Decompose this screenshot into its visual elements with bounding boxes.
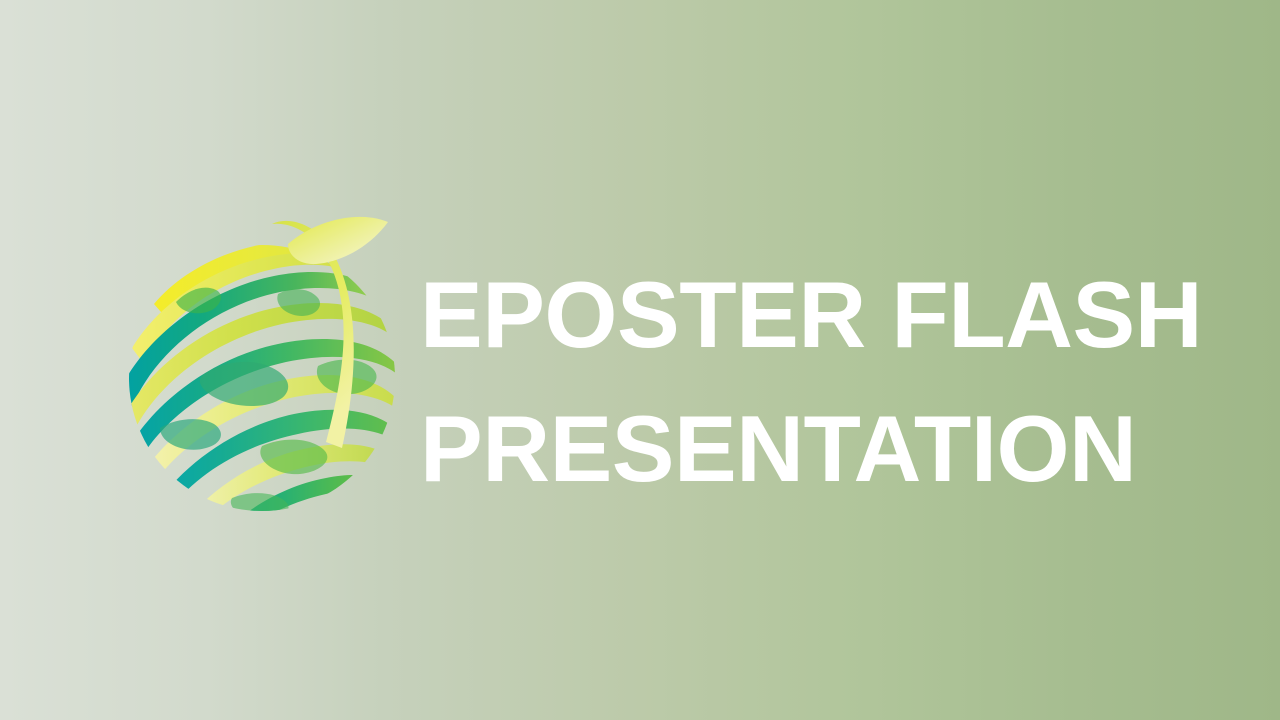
globe-ribbon-bands: [116, 242, 412, 600]
title-line-2: PRESENTATION: [420, 382, 1220, 516]
title-slide: EPOSTER FLASH PRESENTATION: [0, 0, 1280, 720]
ribbon-band-10: [222, 508, 404, 600]
title-block: EPOSTER FLASH PRESENTATION: [420, 248, 1220, 516]
title-line-1: EPOSTER FLASH: [420, 248, 1220, 382]
globe-ribbon-leaf-logo: [112, 198, 412, 518]
globe-logo-svg: [112, 198, 412, 518]
slide-content: EPOSTER FLASH PRESENTATION: [0, 0, 1280, 720]
leaf-icon: [288, 217, 388, 264]
